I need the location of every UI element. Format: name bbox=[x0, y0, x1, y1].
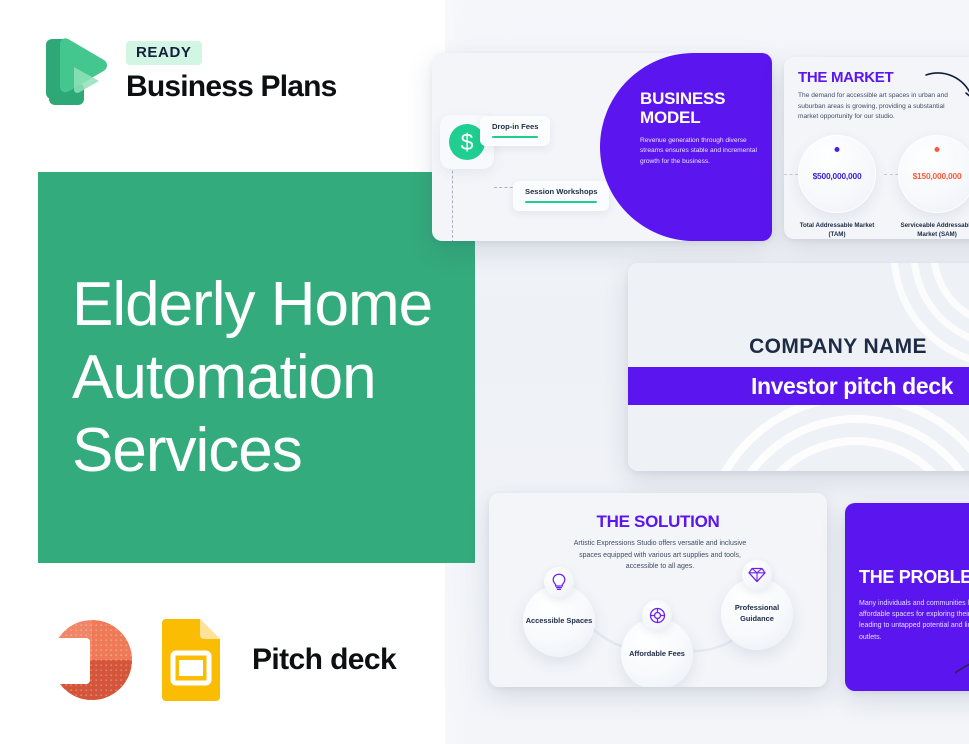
solution-node[interactable]: Affordable Fees bbox=[621, 618, 693, 687]
target-icon bbox=[642, 600, 672, 630]
metric-dot-icon bbox=[835, 147, 840, 152]
revenue-stream-chip[interactable]: Drop-in Fees bbox=[480, 116, 550, 146]
chip-label: Session Workshops bbox=[525, 187, 597, 196]
format-footer: P P Pitch deck bbox=[40, 614, 396, 706]
metric-dot-icon bbox=[935, 147, 940, 152]
metric-value: $150,000,000 bbox=[898, 171, 969, 181]
brand-title: Business Plans bbox=[126, 70, 337, 104]
slide-description: Many individuals and communities lack ac… bbox=[859, 598, 969, 643]
node-label: Accessible Spaces bbox=[526, 616, 593, 627]
metric-value: $500,000,000 bbox=[798, 171, 876, 181]
play-triangle-logo-icon bbox=[40, 33, 110, 111]
chip-underline bbox=[525, 201, 597, 203]
lightbulb-icon bbox=[544, 567, 574, 597]
metric-disc: $150,000,000 bbox=[898, 135, 969, 213]
company-name-heading: COMPANY NAME bbox=[628, 335, 969, 359]
slide-title: BUSINESS MODEL bbox=[640, 89, 760, 127]
metric-disc: $500,000,000 bbox=[798, 135, 876, 213]
ready-badge: READY bbox=[126, 41, 202, 65]
slide-business-model[interactable]: $ Drop-in Fees Session Workshops Commiss… bbox=[432, 53, 772, 241]
node-label: Professional Guidance bbox=[721, 603, 793, 624]
metric-caption: Serviceable Addressable Market (SAM) bbox=[892, 222, 969, 239]
slide-the-problem[interactable]: THE PROBLEM Many individuals and communi… bbox=[845, 503, 969, 691]
chip-label: Drop-in Fees bbox=[492, 122, 538, 131]
market-metrics: $500,000,000 Total Addressable Market (T… bbox=[792, 135, 969, 239]
solution-node[interactable]: Accessible Spaces bbox=[523, 585, 595, 657]
brand-logo-group[interactable]: READY Business Plans bbox=[40, 33, 337, 111]
market-metric[interactable]: $500,000,000 Total Addressable Market (T… bbox=[792, 135, 882, 239]
business-model-diagram: $ Drop-in Fees Session Workshops Commiss… bbox=[432, 53, 628, 241]
revenue-stream-chip[interactable]: Session Workshops bbox=[513, 181, 609, 211]
market-metric[interactable]: $150,000,000 Serviceable Addressable Mar… bbox=[892, 135, 969, 239]
google-slides-file-icon[interactable] bbox=[158, 619, 222, 701]
pitch-deck-band: Investor pitch deck bbox=[628, 367, 969, 405]
curved-arrow-icon bbox=[924, 69, 969, 109]
slide-the-market[interactable]: THE MARKET The demand for accessible art… bbox=[784, 57, 969, 239]
page-title: Elderly Home Automation Services bbox=[72, 268, 492, 487]
metric-caption: Total Addressable Market (TAM) bbox=[792, 222, 882, 239]
diamond-icon bbox=[742, 560, 772, 590]
powerpoint-file-icon[interactable]: P P bbox=[40, 614, 136, 706]
slide-the-solution[interactable]: THE SOLUTION Artistic Expressions Studio… bbox=[489, 493, 827, 687]
node-label: Affordable Fees bbox=[629, 649, 685, 660]
pitch-deck-subtitle: Investor pitch deck bbox=[723, 373, 953, 400]
slide-title: THE MARKET bbox=[798, 69, 893, 86]
footer-label: Pitch deck bbox=[252, 643, 396, 677]
chip-underline bbox=[492, 136, 538, 138]
slide-title: THE PROBLEM bbox=[859, 567, 969, 588]
page-root: READY Business Plans Elderly Home Automa… bbox=[0, 0, 969, 744]
slide-description: Revenue generation through diverse strea… bbox=[640, 136, 760, 167]
decorative-curve bbox=[955, 639, 969, 679]
solution-node[interactable]: Professional Guidance bbox=[721, 578, 793, 650]
slide-company-name[interactable]: COMPANY NAME Investor pitch deck bbox=[628, 263, 969, 471]
